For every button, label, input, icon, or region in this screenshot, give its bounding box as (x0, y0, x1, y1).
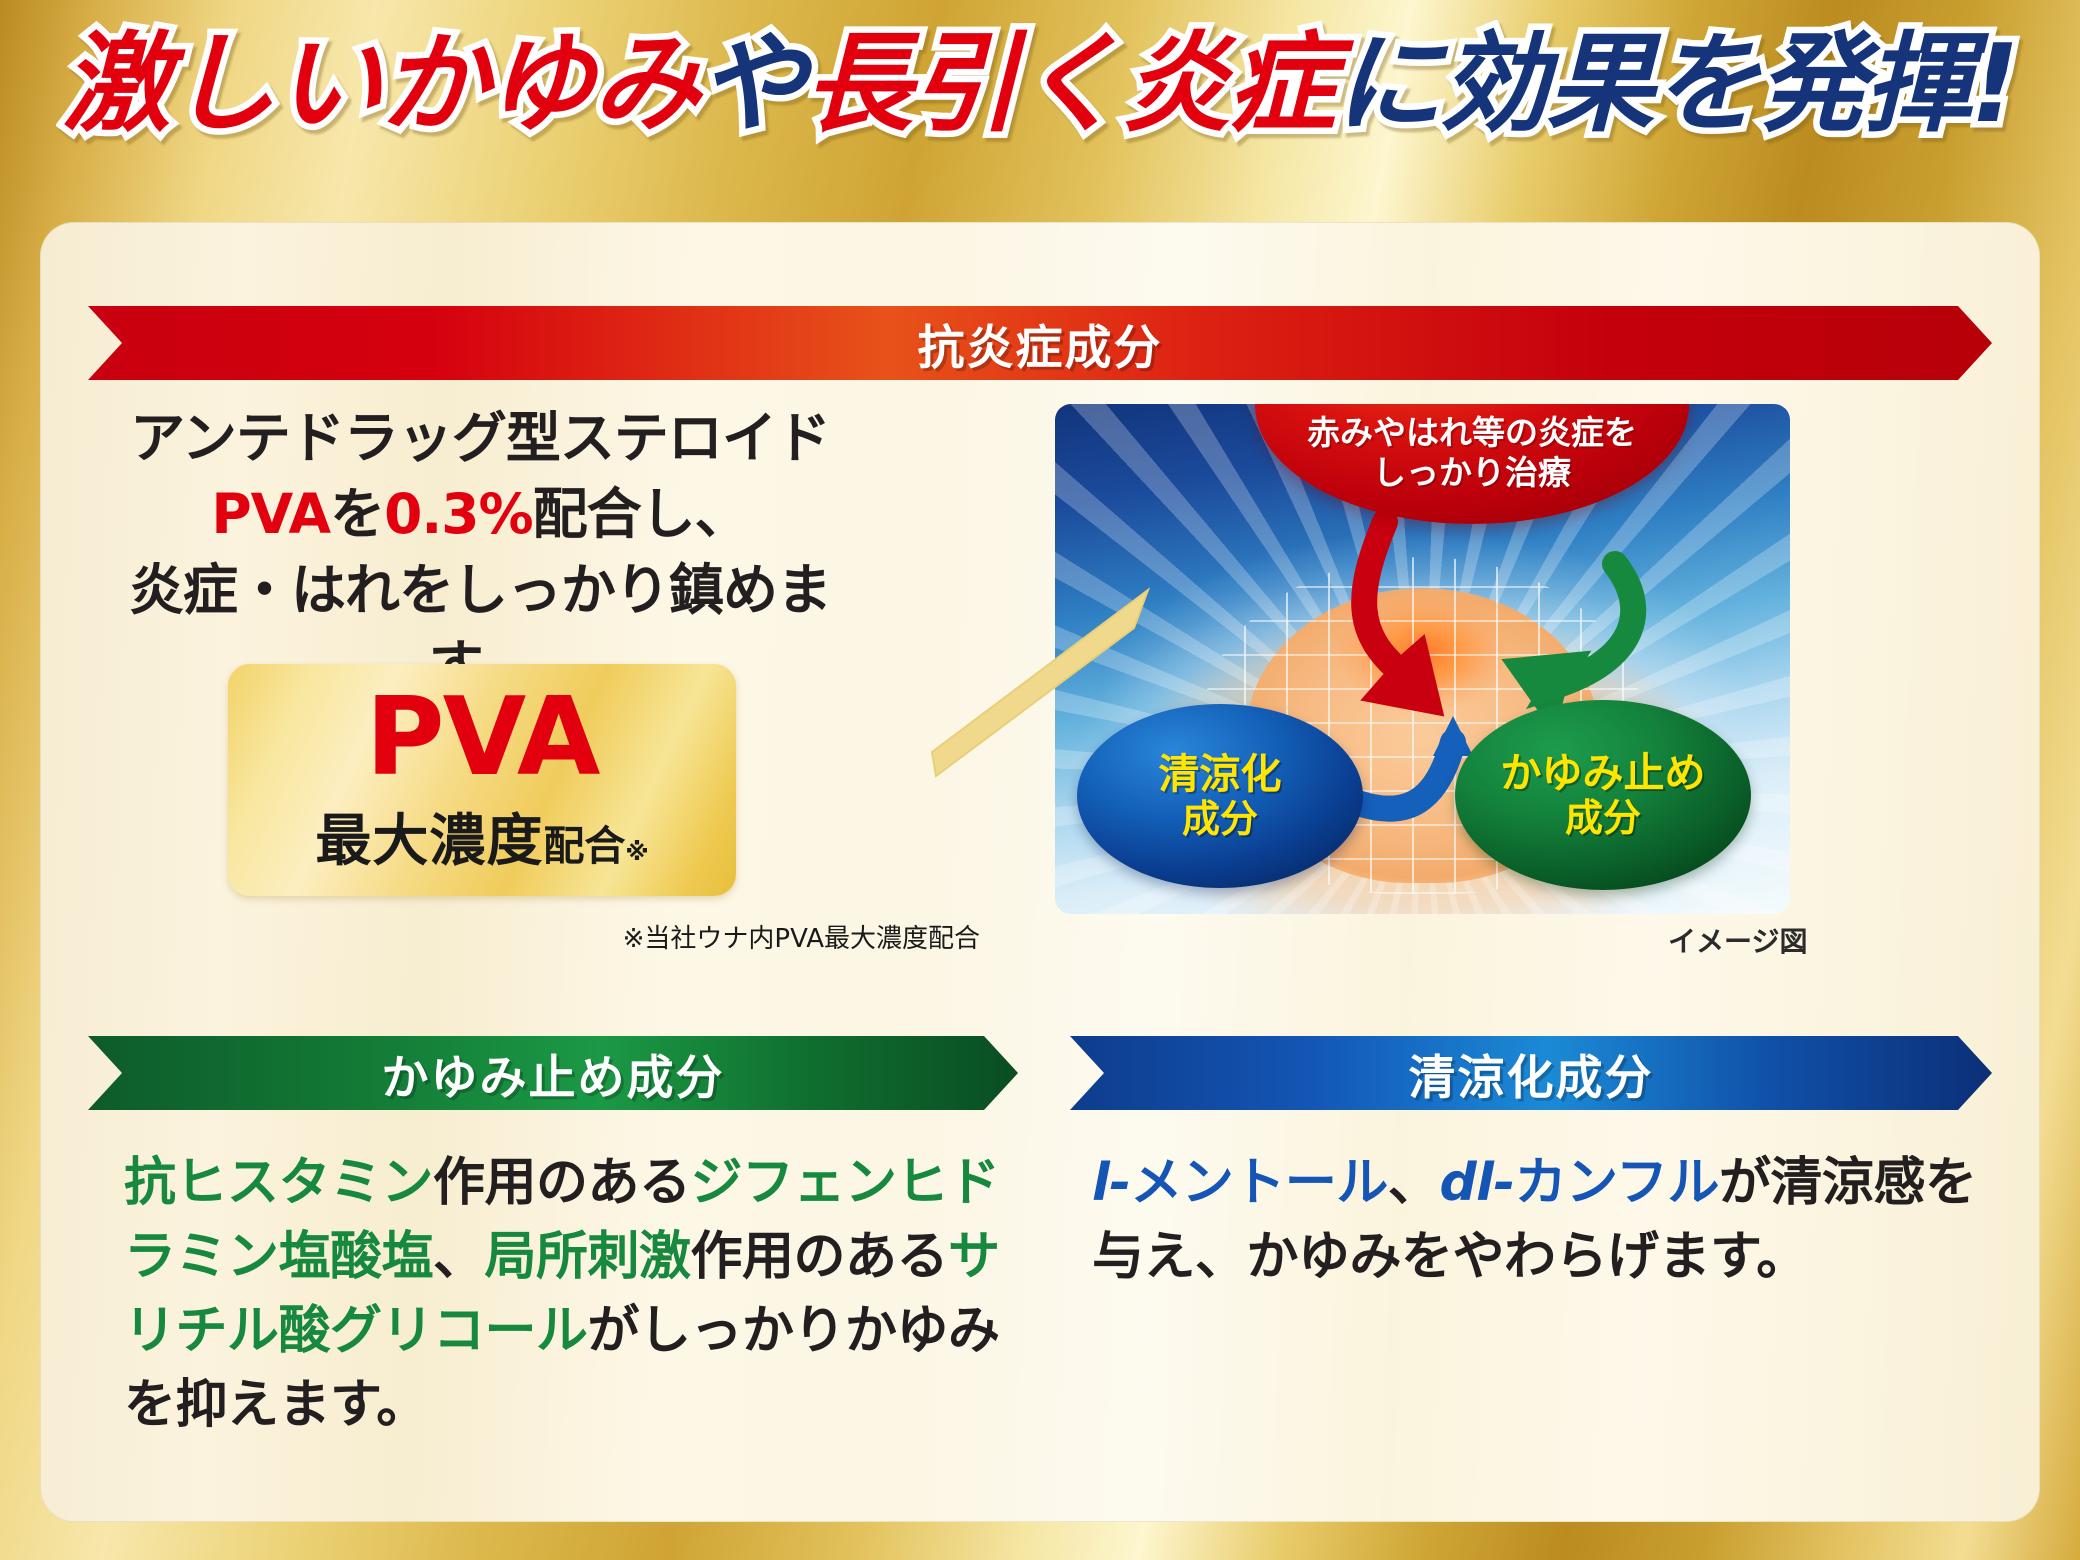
pva-footnote: ※当社ウナ内PVA最大濃度配合 (360, 918, 980, 955)
lead-pva: PVA (211, 482, 330, 546)
bubble-cooling: 清涼化 成分 (1077, 704, 1363, 888)
anti-itch-text-3: 作用のある (691, 1227, 949, 1287)
advertisement-page: 激しいかゆみや長引く炎症に効果を発揮! 抗炎症成分 アンテドラッグ型ステロイド … (0, 0, 2080, 1560)
mechanism-illustration: 抗炎症成分 赤みやはれ等の炎症を しっかり治療 清涼化 成分 かゆみ止め 成分 (1055, 404, 1790, 914)
bubble-cooling-line-2: 成分 (1182, 797, 1258, 841)
headline-part-effective: に効果を発揮! (1334, 22, 2017, 147)
banner-anti-itch-label: かゆみ止め成分 (382, 1039, 725, 1108)
bubble-anti-itch-line-1: かゆみ止め (1501, 750, 1706, 796)
anti-itch-term-local-stimulation: 局所刺激 (485, 1227, 691, 1287)
bubble-anti-inflammatory-body: 赤みやはれ等の炎症を しっかり治療 (1307, 413, 1637, 493)
bubble-anti-itch: かゆみ止め 成分 (1455, 700, 1751, 890)
pva-plate-subtitle-small: 配合 (543, 812, 625, 872)
cooling-copy: l-メントール、dl-カンフルが清涼感を与え、かゆみをやわらげます。 (1092, 1146, 1992, 1294)
headline-part-ya: や (698, 22, 804, 147)
lead-blend: 配合し、 (533, 482, 749, 546)
banner-cooling: 清涼化成分 (1070, 1036, 1992, 1110)
anti-inflammatory-lead-copy: アンテドラッグ型ステロイド PVAを0.3%配合し、 炎症・はれをしっかり鎮めま… (120, 400, 840, 704)
bubble-anti-inflammatory-title-main: 抗炎症 (1333, 404, 1522, 407)
page-headline: 激しいかゆみや長引く炎症に効果を発揮! (0, 20, 2080, 150)
headline-part-severe-itch: 激しいかゆみ (62, 22, 698, 147)
cooling-text-1: 、 (1388, 1153, 1440, 1213)
pva-plate-subtitle: 最大濃度配合※ (315, 796, 648, 877)
bubble-anti-itch-line-2: 成分 (1565, 796, 1641, 840)
bubble-cooling-line-1: 清涼化 (1159, 751, 1282, 797)
headline-part-prolonged-inflammation: 長引く炎症 (804, 22, 1334, 147)
pva-max-concentration-plate: PVA 最大濃度配合※ (228, 664, 736, 896)
pva-plate-asterisk-mark: ※ (625, 838, 648, 866)
pva-plate-subtitle-main: 最大濃度 (315, 796, 543, 877)
pva-plate-title: PVA (366, 684, 599, 792)
banner-anti-inflammatory-label: 抗炎症成分 (918, 309, 1163, 378)
cooling-term-dl-prefix: dl- (1439, 1153, 1514, 1213)
anti-itch-text-2: 、 (433, 1227, 485, 1287)
lead-percentage: 0.3% (384, 482, 533, 546)
banner-anti-itch: かゆみ止め成分 (88, 1036, 1018, 1110)
anti-itch-term-antihistamine: 抗ヒスタミン (124, 1153, 433, 1213)
bubble-anti-inflammatory-body-line-1: 赤みやはれ等の炎症を (1307, 413, 1637, 452)
cooling-term-camphor: カンフル (1515, 1153, 1719, 1213)
cooling-term-l-prefix: l- (1092, 1153, 1130, 1213)
anti-itch-copy: 抗ヒスタミン作用のあるジフェンヒドラミン塩酸塩、局所刺激作用のあるサリチル酸グリ… (124, 1146, 1024, 1442)
cooling-term-menthol: メントール (1130, 1153, 1388, 1213)
bubble-anti-inflammatory-title: 抗炎症成分 (1333, 404, 1610, 407)
anti-itch-text-1: 作用のある (433, 1153, 691, 1213)
lead-line-1: アンテドラッグ型ステロイド (130, 406, 830, 470)
illustration-caption: イメージ図 (1668, 920, 1807, 960)
bubble-anti-inflammatory-body-line-2: しっかり治療 (1373, 453, 1571, 492)
banner-cooling-label: 清涼化成分 (1409, 1039, 1654, 1108)
banner-anti-inflammatory: 抗炎症成分 (88, 306, 1992, 380)
lead-wo: を (330, 482, 384, 546)
